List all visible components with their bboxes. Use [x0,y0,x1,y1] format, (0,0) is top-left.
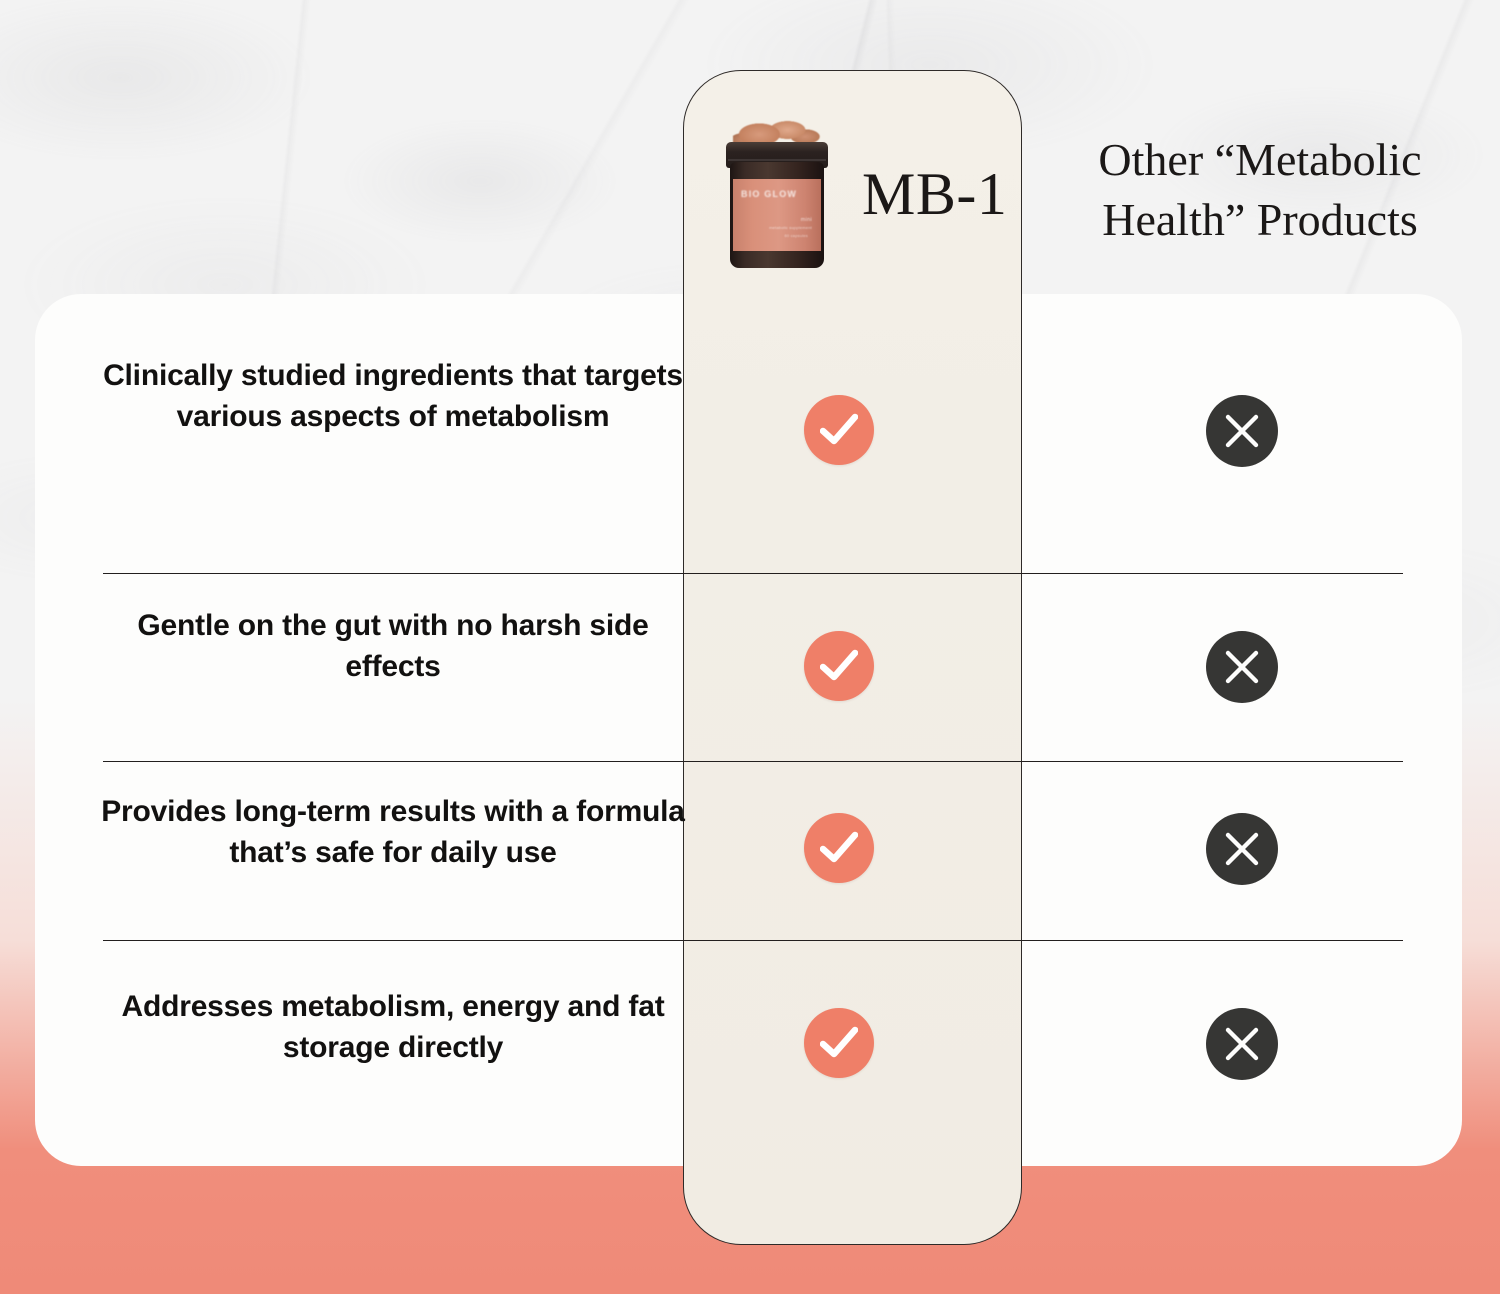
table-row: Gentle on the gut with no harsh side eff… [35,574,1462,762]
table-row: Provides long-term results with a formul… [35,762,1462,941]
jar-label: BIO GLOW mini metabolic supplement 60 ca… [733,179,821,251]
others-cell [1206,631,1280,705]
others-column-title-line-2: Health” Products [1050,190,1470,250]
product-cell [804,631,878,705]
feature-label: Provides long-term results with a formul… [100,792,686,873]
cross-icon [1206,1008,1278,1080]
product-column-title: MB-1 [862,160,1007,229]
check-icon [804,395,874,465]
cross-icon [1206,631,1278,703]
jar-label-line-2: metabolic supplement [769,225,812,230]
cross-icon [1206,395,1278,467]
others-cell [1206,395,1280,469]
cross-icon [1206,813,1278,885]
others-cell [1206,813,1280,887]
jar-label-line-3: 60 capsules [784,233,808,238]
product-cell [804,1008,878,1082]
product-cell [804,395,878,469]
jar-brand-text: BIO GLOW [741,189,797,199]
product-cell [804,813,878,887]
jar-label-line-1: mini [801,217,812,223]
check-icon [804,813,874,883]
product-jar-image: BIO GLOW mini metabolic supplement 60 ca… [719,118,835,270]
table-row: Clinically studied ingredients that targ… [35,294,1462,574]
comparison-table: Clinically studied ingredients that targ… [35,294,1462,1166]
others-column-title: Other “Metabolic Health” Products [1050,130,1470,250]
check-icon [804,631,874,701]
table-row: Addresses metabolism, energy and fat sto… [35,941,1462,1166]
others-column-title-line-1: Other “Metabolic [1050,130,1470,190]
feature-label: Addresses metabolism, energy and fat sto… [100,987,686,1068]
feature-label: Clinically studied ingredients that targ… [100,356,686,437]
check-icon [804,1008,874,1078]
feature-label: Gentle on the gut with no harsh side eff… [100,606,686,687]
others-cell [1206,1008,1280,1082]
